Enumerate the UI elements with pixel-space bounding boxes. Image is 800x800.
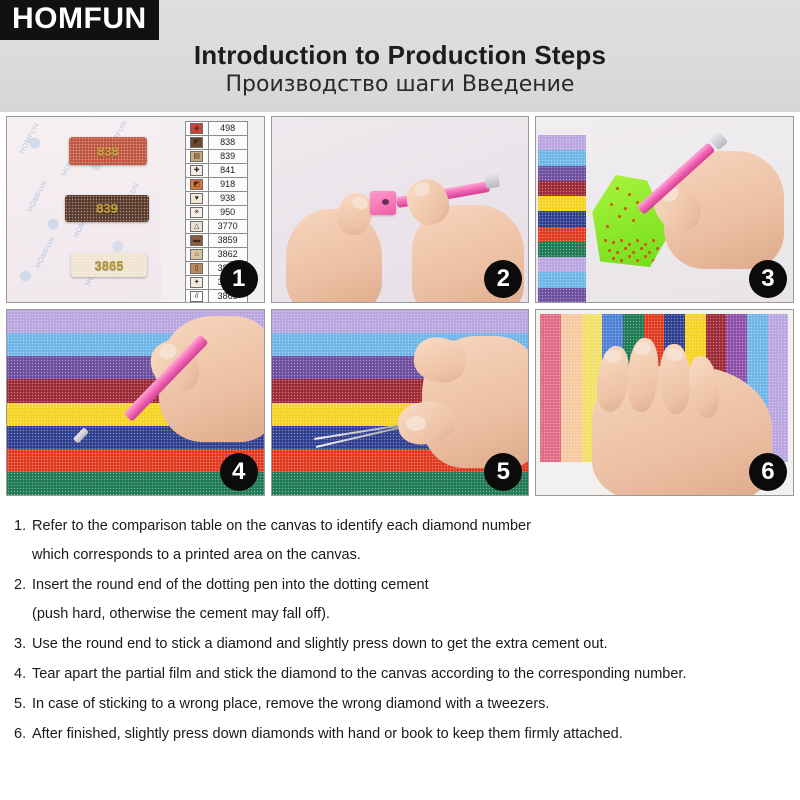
color-chart-row: ◩918 [186,178,247,192]
color-swatch: ◤ [190,137,203,148]
striped-canvas-vertical [538,135,586,303]
tray-diamond [628,255,631,258]
canvas-stripe [538,135,586,150]
instruction-number: 5. [14,695,32,714]
page-title: Introduction to Production Steps [0,40,800,70]
color-swatch: ◩ [190,179,203,190]
step-badge: 3 [749,260,787,298]
instruction-text: After finished, slightly press down diam… [32,725,786,744]
canvas-stripe [538,166,586,181]
tray-diamond [610,203,613,206]
instruction-item: 2.Insert the round end of the dotting pe… [14,576,786,624]
instruction-number: 6. [14,725,32,744]
tray-diamond [636,259,639,262]
brand-logo: HOMFUN [0,0,159,40]
tray-diamond [608,249,611,252]
instruction-continuation: (push hard, otherwise the cement may fal… [32,605,786,624]
instruction-number: 4. [14,665,32,684]
color-chart-symbol-cell: ▬ [186,234,209,247]
color-chart-row: ◤838 [186,136,247,150]
color-swatch: ▯ [190,263,203,274]
color-chart-symbol-cell: ✚ [186,164,209,177]
canvas-stripe [538,242,586,257]
tray-diamond [632,251,635,254]
color-swatch: △ [190,221,203,232]
color-chart-number: 3859 [209,234,247,247]
color-chart-symbol-cell: // [186,290,209,303]
panel-pick-diamond-from-tray: 3 [535,116,794,303]
color-swatch: ✦ [190,277,203,288]
tray-diamond [616,251,619,254]
canvas-stripe [538,288,586,303]
tray-diamond [640,247,643,250]
color-swatch: ✳ [190,207,203,218]
color-chart-symbol-cell: ✦ [186,276,209,289]
color-chart-row: ▬3859 [186,234,247,248]
steps-photo-grid: HOMFUN HOMFUN HOMFUN HOMFUN HOMFUN HOMFU… [6,116,794,496]
color-chart-symbol-cell: △ [186,220,209,233]
instruction-item: 5.In case of sticking to a wrong place, … [14,695,786,714]
panel-remove-with-tweezers: 5 [271,309,530,496]
color-swatch: // [190,291,203,302]
instructions-list: 1.Refer to the comparison table on the c… [0,505,800,755]
tray-diamond [636,239,639,242]
color-chart-row: △3770 [186,220,247,234]
instruction-text: In case of sticking to a wrong place, re… [32,695,786,714]
tray-diamond [604,239,607,242]
step-badge: 6 [749,453,787,491]
color-chart-row: ▤839 [186,150,247,164]
color-swatch: ✚ [190,165,203,176]
tray-diamond [620,259,623,262]
tray-diamond [612,257,615,260]
color-chart-symbol-cell: ✳ [186,206,209,219]
color-chart-number: 839 [209,150,247,163]
instruction-text: Insert the round end of the dotting pen … [32,576,786,624]
canvas-stripe [538,227,586,242]
tray-diamond [616,187,619,190]
fingernail [406,416,426,431]
instruction-number: 2. [14,576,32,624]
color-swatch: ◈ [190,123,203,134]
tray-diamond [618,215,621,218]
color-chart-number: 938 [209,192,247,205]
tray-diamond [612,241,615,244]
color-chart-row: ✳950 [186,206,247,220]
color-chart-symbol-cell: ⌂ [186,248,209,261]
instruction-sheet: HOMFUN Introduction to Production Steps … [0,0,800,800]
color-swatch: ♥ [190,193,203,204]
color-chart-symbol-cell: ▯ [186,262,209,275]
color-swatch: ▤ [190,151,203,162]
canvas-stripe [538,150,586,165]
panel-place-diamond-on-canvas: 4 [6,309,265,496]
tray-diamond [644,243,647,246]
canvas-stripe [538,211,586,226]
color-swatch: ⌂ [190,249,203,260]
diamond-bag: 3865 [71,253,147,277]
tray-diamond [624,247,627,250]
diamond-bag-label: 3865 [95,258,124,273]
color-chart-number: 841 [209,164,247,177]
color-chart-symbol-cell: ◈ [186,122,209,135]
instruction-text: Use the round end to stick a diamond and… [32,635,786,654]
tray-diamond [652,239,655,242]
instruction-number: 1. [14,517,32,565]
diamond-bag: 839 [65,195,149,222]
tray-diamond [656,247,659,250]
canvas-stripe [561,314,582,462]
title-block: Introduction to Production Steps Произво… [0,40,800,99]
instruction-continuation: which corresponds to a printed area on t… [32,546,786,565]
color-chart-number: 498 [209,122,247,135]
panel-press-down-with-hand: 6 [535,309,794,496]
color-chart-number: 950 [209,206,247,219]
instruction-text: Refer to the comparison table on the can… [32,517,786,565]
canvas-stripe [538,181,586,196]
diamond-bag: 838 [69,137,147,165]
instruction-item: 3.Use the round end to stick a diamond a… [14,635,786,654]
color-chart-symbol-cell: ◩ [186,178,209,191]
diamond-bag-label: 838 [97,144,119,159]
color-chart-row: ♥938 [186,192,247,206]
color-chart-symbol-cell: ♥ [186,192,209,205]
page-subtitle: Производство шаги Введение [0,71,800,99]
tray-diamond [620,239,623,242]
dotting-cement [370,191,396,215]
instruction-item: 1.Refer to the comparison table on the c… [14,517,786,565]
tray-diamond [606,225,609,228]
tray-diamond [624,207,627,210]
canvas-stripe [538,196,586,211]
header: HOMFUN Introduction to Production Steps … [0,0,800,112]
color-chart-symbol-cell: ◤ [186,136,209,149]
pen-cap [483,171,500,189]
instruction-number: 3. [14,635,32,654]
tray-diamond [632,219,635,222]
instruction-text: Tear apart the partial film and stick th… [32,665,786,684]
color-chart-number: 3770 [209,220,247,233]
canvas-stripe [540,314,561,462]
color-chart-row: ◈498 [186,122,247,136]
tray-diamond [628,193,631,196]
canvas-stripe [272,310,529,333]
brand-logo-text: HOMFUN [12,4,147,34]
color-chart-symbol-cell: ▤ [186,150,209,163]
step-badge: 4 [220,453,258,491]
tray-diamond [644,255,647,258]
color-chart-row: ✚841 [186,164,247,178]
panel-diamond-bags-and-chart: HOMFUN HOMFUN HOMFUN HOMFUN HOMFUN HOMFU… [6,116,265,303]
color-chart-number: 3862 [209,248,247,261]
canvas-stripe [538,257,586,272]
color-chart-number: 838 [209,136,247,149]
step-badge: 1 [220,260,258,298]
instruction-item: 4.Tear apart the partial film and stick … [14,665,786,684]
tray-diamond [628,243,631,246]
canvas-stripe [538,272,586,287]
tray-diamond [648,251,651,254]
diamond-bag-label: 839 [96,201,118,216]
instruction-item: 6.After finished, slightly press down di… [14,725,786,744]
color-chart-number: 918 [209,178,247,191]
panel-insert-pen-into-cement: 2 [271,116,530,303]
color-swatch: ▬ [190,235,203,246]
